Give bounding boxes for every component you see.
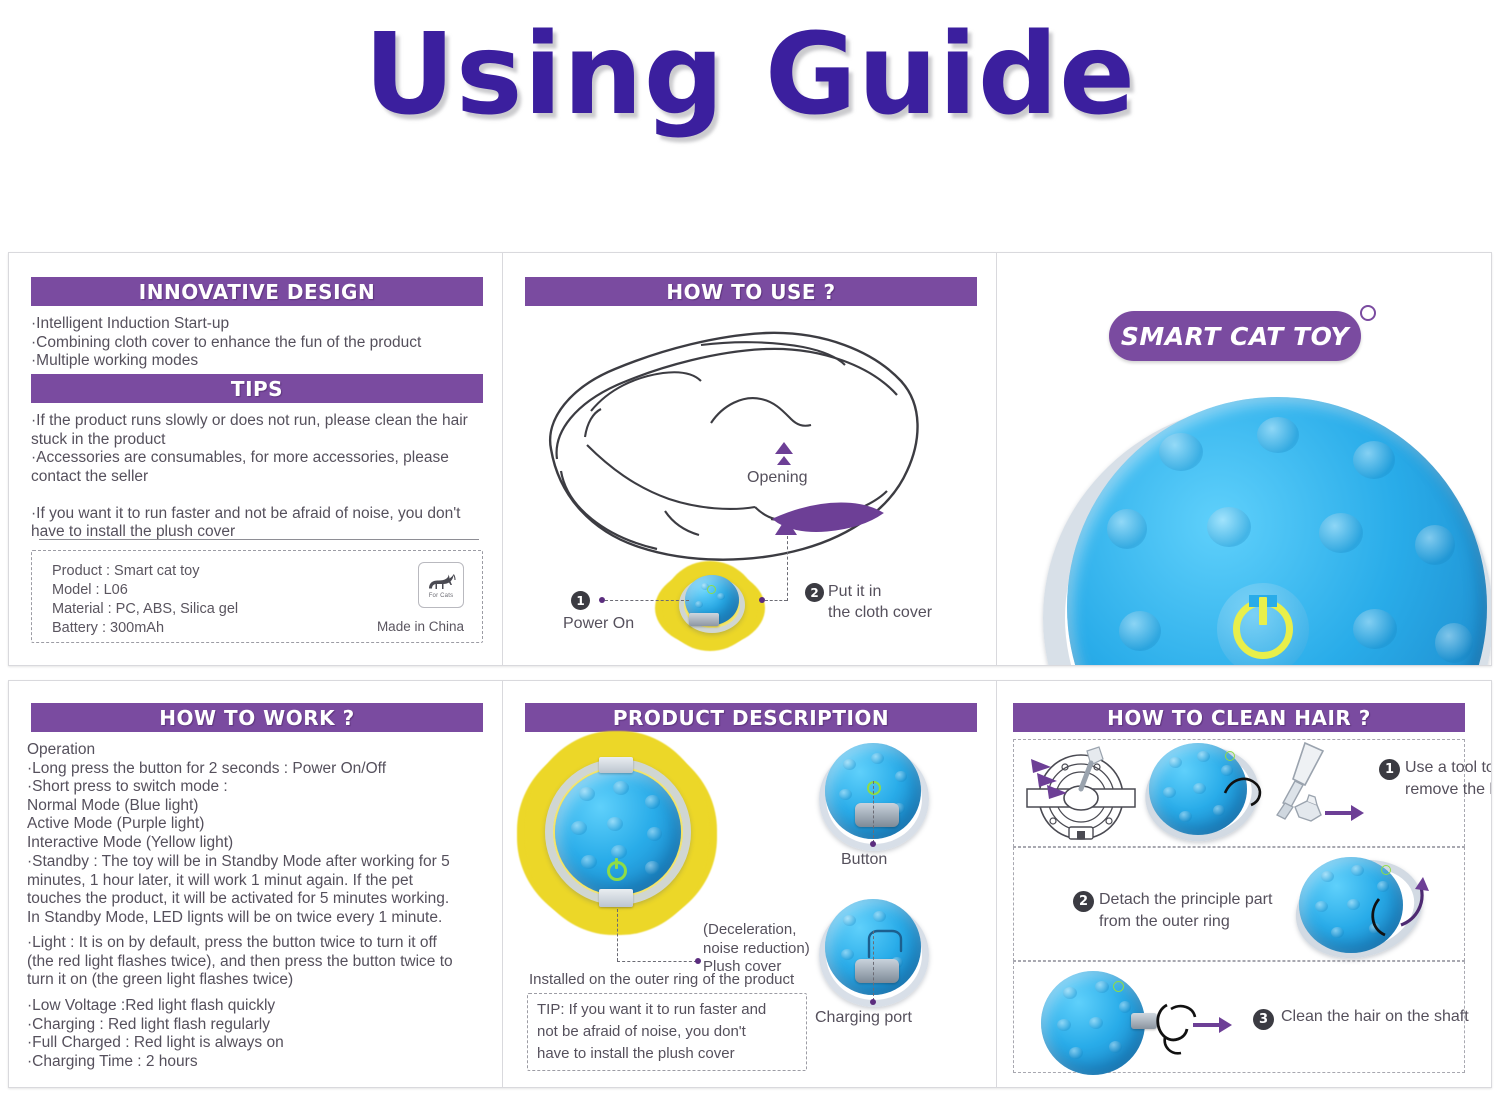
- hero-toy-ball: [1067, 397, 1487, 665]
- ball-dimple: [1353, 609, 1397, 649]
- cat-icon: [426, 572, 456, 592]
- ball-dimple: [645, 861, 660, 875]
- clean-step-2-text: Detach the principle part from the outer…: [1099, 889, 1329, 933]
- ball-dimple: [843, 759, 856, 770]
- panel-how-to-clean-hair: HOW TO CLEAN HAIR ?: [997, 681, 1491, 1087]
- clean-step-2-badge: 2: [1073, 891, 1094, 912]
- clean-step-1-text: Use a tool to remove the lock: [1405, 757, 1491, 801]
- ball-dimple: [1197, 751, 1210, 762]
- tips-bar: TIPS: [31, 374, 483, 403]
- opening-arrow-upper: [775, 442, 793, 454]
- toy-ball-main: [555, 769, 681, 895]
- lock-diagram-icon: [1025, 745, 1137, 843]
- ball-dimple: [839, 789, 852, 800]
- ball-dimple: [1351, 865, 1364, 876]
- ball-dimple: [695, 601, 703, 608]
- button-housing: [855, 803, 899, 827]
- panel-innovative-design: INNOVATIVE DESIGN ·Intelligent Induction…: [9, 253, 503, 665]
- tips-bullets: ·If the product runs slowly or does not …: [31, 412, 493, 542]
- bottom-row: HOW TO WORK ? Operation ·Long press the …: [8, 680, 1492, 1088]
- plush-leader-v: [617, 909, 618, 961]
- ball-dimple: [1063, 987, 1077, 999]
- port-leader-dot: [870, 999, 876, 1005]
- ball-dimple: [1321, 871, 1334, 882]
- ball-dimple: [1119, 1001, 1131, 1013]
- page-title: Using Guide: [364, 19, 1136, 131]
- button-label: Button: [841, 851, 887, 870]
- clean-step-3-badge: 3: [1253, 1009, 1274, 1030]
- step-2-badge: 2: [805, 583, 824, 602]
- button-leader-dot: [870, 841, 876, 847]
- registered-degree-icon: [1360, 305, 1376, 321]
- ball-dimple: [645, 795, 660, 809]
- toy-base-clip: [689, 613, 719, 626]
- panel-how-to-use: HOW TO USE ? Opening: [503, 253, 997, 665]
- ball-dimple: [611, 845, 627, 859]
- ball-dimple: [1331, 927, 1344, 938]
- power-icon: [1225, 751, 1235, 761]
- detach-motion-sketch: [1365, 877, 1445, 953]
- ball-dimple: [1179, 811, 1192, 822]
- charging-port-outline: [865, 927, 905, 961]
- installed-note: Installed on the outer ring of the produ…: [529, 971, 794, 990]
- step-1-badge: 1: [571, 591, 590, 610]
- panel-product-description: PRODUCT DESCRIPTION: [503, 681, 997, 1087]
- ball-dimple: [895, 771, 907, 782]
- made-in-label: Made in China: [377, 619, 464, 634]
- ball-dimple: [1119, 611, 1161, 651]
- product-description-bar: PRODUCT DESCRIPTION: [525, 703, 977, 732]
- plush-leader-dot: [695, 958, 701, 964]
- ball-dimple: [1257, 417, 1299, 453]
- ball-dimple: [843, 915, 856, 926]
- ball-dimple: [1069, 1047, 1083, 1059]
- ball-dimple: [1415, 525, 1455, 565]
- ball-dimple: [647, 827, 662, 841]
- how-to-clean-hair-bar: HOW TO CLEAN HAIR ?: [1013, 703, 1465, 732]
- ball-dimple: [579, 787, 595, 801]
- cloth-cover-illustration: [523, 311, 943, 581]
- ball-dimple: [571, 821, 587, 835]
- how-to-work-light: ·Light : It is on by default, press the …: [27, 934, 499, 990]
- ball-dimple: [1353, 441, 1395, 479]
- ball-dimple: [1163, 787, 1176, 798]
- opening-label: Opening: [747, 469, 808, 488]
- smart-cat-toy-pill: SMART CAT TOY: [1109, 311, 1361, 361]
- ball-dimple: [1315, 901, 1328, 912]
- ball-dimple: [841, 949, 854, 960]
- ball-dimple: [1347, 899, 1360, 910]
- innovative-design-bullets: ·Intelligent Induction Start-up ·Combini…: [31, 315, 491, 371]
- charging-port-label: Charging port: [815, 1009, 912, 1028]
- power-icon-stem-top: [1259, 597, 1267, 625]
- ball-dimple: [1057, 1019, 1071, 1031]
- using-guide-page: Using Guide INNOVATIVE DESIGN ·Intellige…: [0, 0, 1500, 1096]
- lock-piece-icon: [1287, 793, 1331, 827]
- panel-hero: SMART CAT TOY: [997, 253, 1491, 665]
- power-icon: [707, 585, 716, 594]
- clean-step-3-text: Clean the hair on the shaft: [1281, 1008, 1469, 1027]
- how-to-use-bar: HOW TO USE ?: [525, 277, 977, 306]
- innovative-design-bar: INNOVATIVE DESIGN: [31, 277, 483, 306]
- power-icon: [1113, 981, 1124, 992]
- insert-arrow: [775, 518, 797, 535]
- ball-dimple: [613, 781, 629, 795]
- leader-line-2a: [765, 600, 787, 601]
- ball-dimple: [1319, 513, 1363, 553]
- ball-dimple: [1095, 981, 1109, 993]
- top-clip: [599, 757, 633, 773]
- bottom-clip: [599, 889, 633, 907]
- how-to-work-bar: HOW TO WORK ?: [31, 703, 483, 732]
- panel-how-to-work: HOW TO WORK ? Operation ·Long press the …: [9, 681, 503, 1087]
- plush-leader-h: [617, 961, 697, 962]
- how-to-work-standby: ·Standby : The toy will be in Standby Mo…: [27, 853, 499, 927]
- ball-dimple: [1089, 1017, 1103, 1029]
- leader-line-2b: [787, 536, 788, 601]
- ball-dimple: [1159, 433, 1203, 471]
- page-header: Using Guide: [0, 0, 1500, 150]
- ball-dimple: [717, 593, 725, 600]
- ball-dimple: [871, 753, 884, 764]
- spec-divider: [39, 539, 479, 540]
- spec-lines: Product : Smart cat toy Model : L06 Mate…: [52, 562, 238, 638]
- for-cats-badge: For Cats: [418, 562, 464, 608]
- ball-dimple: [1109, 1041, 1122, 1053]
- clean-step-1-badge: 1: [1379, 759, 1400, 780]
- power-icon-stem: [615, 858, 618, 869]
- port-leader: [873, 931, 874, 1001]
- clean-step-1-arrow-line: [1325, 811, 1353, 815]
- ball-dimple: [607, 817, 623, 831]
- ball-dimple: [1435, 623, 1473, 663]
- power-icon: [1381, 865, 1391, 875]
- top-row: INNOVATIVE DESIGN ·Intelligent Induction…: [8, 252, 1492, 666]
- ball-dimple: [1107, 509, 1147, 549]
- opening-arrow-lower: [777, 456, 791, 465]
- port-housing: [855, 959, 899, 983]
- power-icon: [867, 781, 881, 795]
- step-1-label: Power On: [563, 615, 634, 634]
- clean-step-3-arrow-line: [1193, 1023, 1221, 1027]
- ball-dimple: [1207, 507, 1251, 547]
- ball-dimple: [873, 911, 886, 922]
- how-to-work-status: ·Low Voltage :Red light flash quickly ·C…: [27, 997, 499, 1071]
- clean-step-1-arrow-head: [1351, 805, 1364, 821]
- leader-line-1: [605, 600, 689, 601]
- toy-ball-clean-3: [1041, 971, 1145, 1075]
- ball-dimple: [581, 855, 597, 869]
- tip-text: TIP: If you want it to run faster and no…: [537, 999, 803, 1065]
- button-leader: [873, 781, 874, 843]
- step-2-label: Put it in the cloth cover: [828, 581, 932, 623]
- ball-dimple: [1169, 757, 1182, 768]
- for-cats-label: For Cats: [429, 593, 454, 599]
- ball-dimple: [1193, 783, 1206, 794]
- spec-box: Product : Smart cat toy Model : L06 Mate…: [31, 550, 483, 643]
- hair-tangle-sketch: [1149, 995, 1205, 1059]
- clean-step-3-arrow-head: [1219, 1017, 1232, 1033]
- how-to-work-operation: Operation ·Long press the button for 2 s…: [27, 741, 497, 852]
